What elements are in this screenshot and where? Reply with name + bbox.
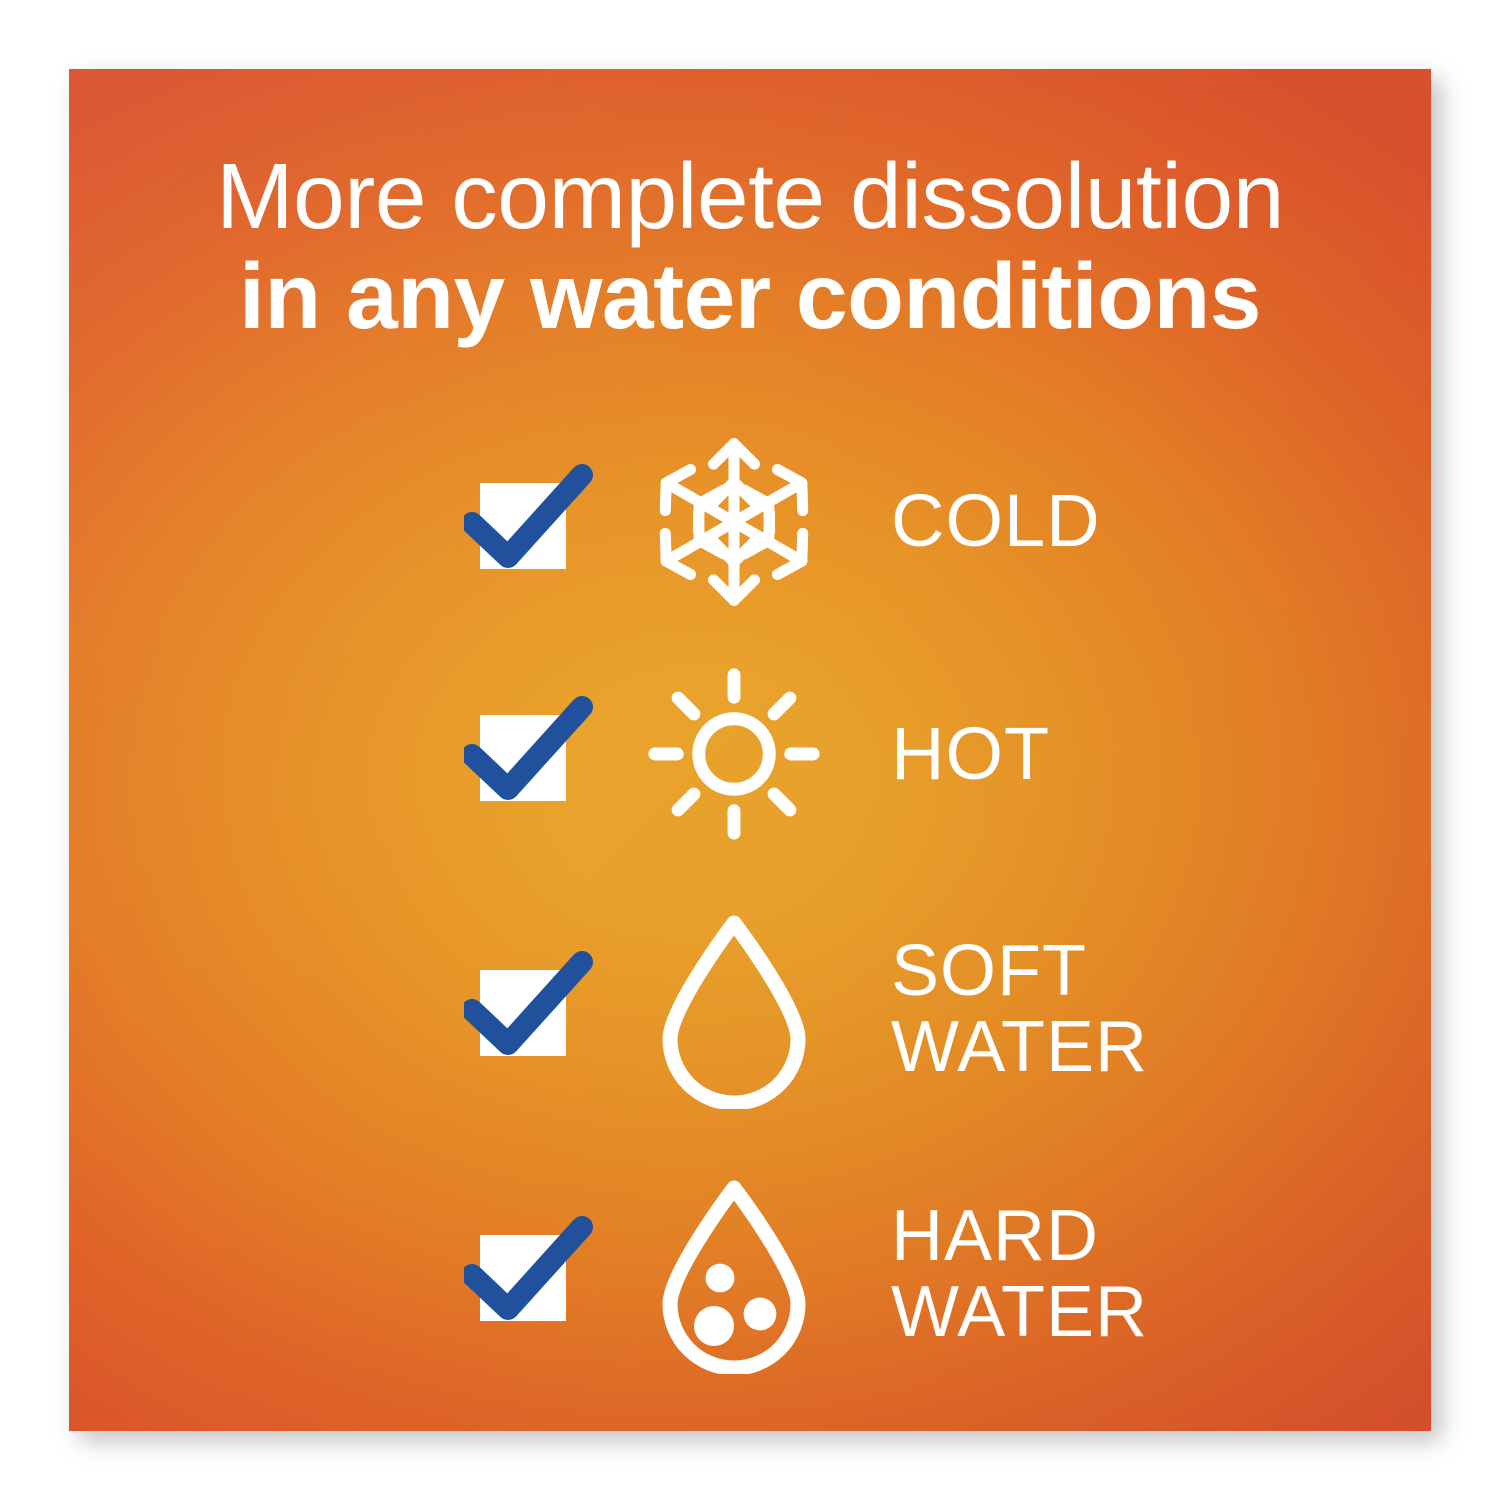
feature-row-hot: HOT [69, 634, 1431, 874]
feature-list: COLD [69, 409, 1431, 1404]
feature-row-hard-water: HARD WATER [69, 1144, 1431, 1404]
check-icon [464, 689, 594, 819]
check-icon [464, 1209, 594, 1339]
headline: More complete dissolution in any water c… [69, 149, 1431, 348]
checkbox-hot[interactable] [464, 689, 594, 819]
headline-line-2: in any water conditions [91, 244, 1409, 348]
feature-label-hard-water: HARD WATER [891, 1198, 1148, 1351]
water-drop-icon [636, 917, 831, 1102]
poster-panel: More complete dissolution in any water c… [69, 69, 1431, 1431]
water-drop-minerals-icon [636, 1182, 831, 1367]
headline-line-1: More complete dissolution [91, 149, 1409, 244]
feature-row-cold: COLD [69, 409, 1431, 634]
checkbox-cold[interactable] [464, 457, 594, 587]
checkbox-soft-water[interactable] [464, 944, 594, 1074]
feature-label-hot: HOT [891, 716, 1050, 793]
poster-canvas: More complete dissolution in any water c… [0, 0, 1500, 1500]
sun-icon [636, 662, 831, 847]
check-icon [464, 944, 594, 1074]
check-icon [464, 457, 594, 587]
checkbox-hard-water[interactable] [464, 1209, 594, 1339]
feature-row-soft-water: SOFT WATER [69, 874, 1431, 1144]
feature-label-soft-water: SOFT WATER [891, 933, 1148, 1086]
feature-label-cold: COLD [891, 483, 1101, 560]
snowflake-icon [636, 429, 831, 614]
